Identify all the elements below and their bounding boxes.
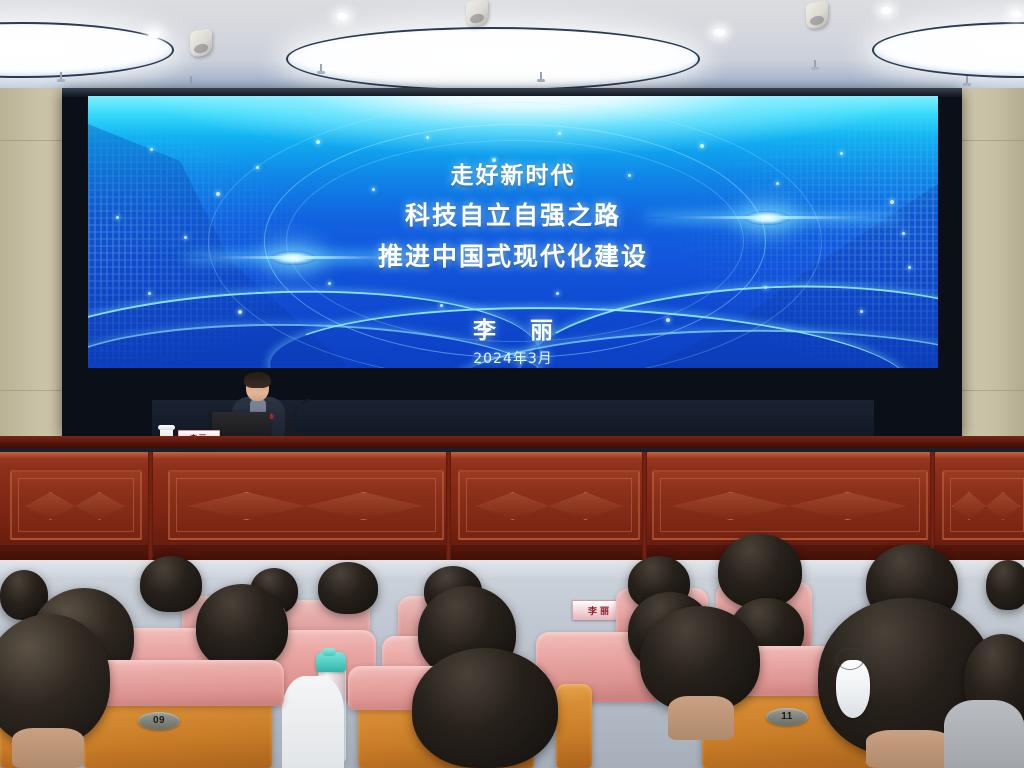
lecture-hall-photo: 走好新时代 科技自立自强之路 推进中国式现代化建设 李丽 2024年3月 李丽 <box>0 0 1024 768</box>
foreground-head-center <box>412 648 558 768</box>
ceiling-speaker-icon <box>466 0 488 28</box>
sprinkler-icon <box>60 72 62 81</box>
podium-panel <box>168 470 444 540</box>
downlight-icon <box>1010 10 1023 19</box>
podium-top-lip <box>0 452 1024 459</box>
screen-speaker-name: 李丽 <box>88 311 938 345</box>
audience-head <box>140 556 202 612</box>
water-bottle-flip-tab <box>322 648 336 656</box>
podium-divider <box>930 452 935 560</box>
sprinkler-icon <box>814 60 816 69</box>
presenter-hair <box>244 372 271 388</box>
ceiling <box>0 0 1024 96</box>
wall-right-panel <box>962 88 1024 470</box>
podium-divider <box>642 452 647 560</box>
screen-title-line-2: 科技自立自强之路 <box>88 196 938 232</box>
seat-back <box>556 684 592 768</box>
oval-ceiling-light-center <box>286 27 700 91</box>
screen-title-line-1: 走好新时代 <box>88 156 938 190</box>
seat-number-badge: 11 <box>766 708 808 726</box>
audience-head <box>986 560 1024 610</box>
screen-date: 2024年3月 <box>88 348 938 368</box>
foreground-neck-left <box>12 728 84 768</box>
foreground-head-left <box>0 614 110 746</box>
screen-title-line-3: 推进中国式现代化建设 <box>88 237 938 273</box>
audience-head <box>318 562 378 614</box>
eyeglasses-icon <box>836 648 864 670</box>
ceiling-speaker-icon <box>806 0 828 29</box>
podium-divider <box>446 452 451 560</box>
foreground-neck-center-right <box>668 696 734 740</box>
audience-white-shirt <box>282 676 344 768</box>
podium-panel <box>10 470 142 540</box>
desk-top-surface <box>0 436 1024 448</box>
audience-head <box>196 584 288 670</box>
ceiling-speaker-icon <box>190 28 212 57</box>
podium-panel <box>942 470 1024 540</box>
downlight-icon <box>880 6 893 15</box>
podium-panel <box>652 470 928 540</box>
foreground-neck-right <box>866 730 952 768</box>
downlight-icon <box>148 30 161 39</box>
sprinkler-icon <box>966 76 968 85</box>
downlight-icon <box>336 12 349 21</box>
podium-divider <box>148 452 153 560</box>
seat-number-badge: 09 <box>138 712 180 730</box>
sprinkler-icon <box>320 64 322 73</box>
sprinkler-icon <box>540 72 542 81</box>
audience-gray-shirt <box>944 700 1024 768</box>
teacup-lid <box>158 425 175 430</box>
sprinkler-icon <box>190 76 192 85</box>
podium-panel <box>458 470 640 540</box>
led-screen-display: 走好新时代 科技自立自强之路 推进中国式现代化建设 李丽 2024年3月 <box>88 96 938 368</box>
audience-head <box>718 534 802 608</box>
downlight-icon <box>713 28 726 37</box>
